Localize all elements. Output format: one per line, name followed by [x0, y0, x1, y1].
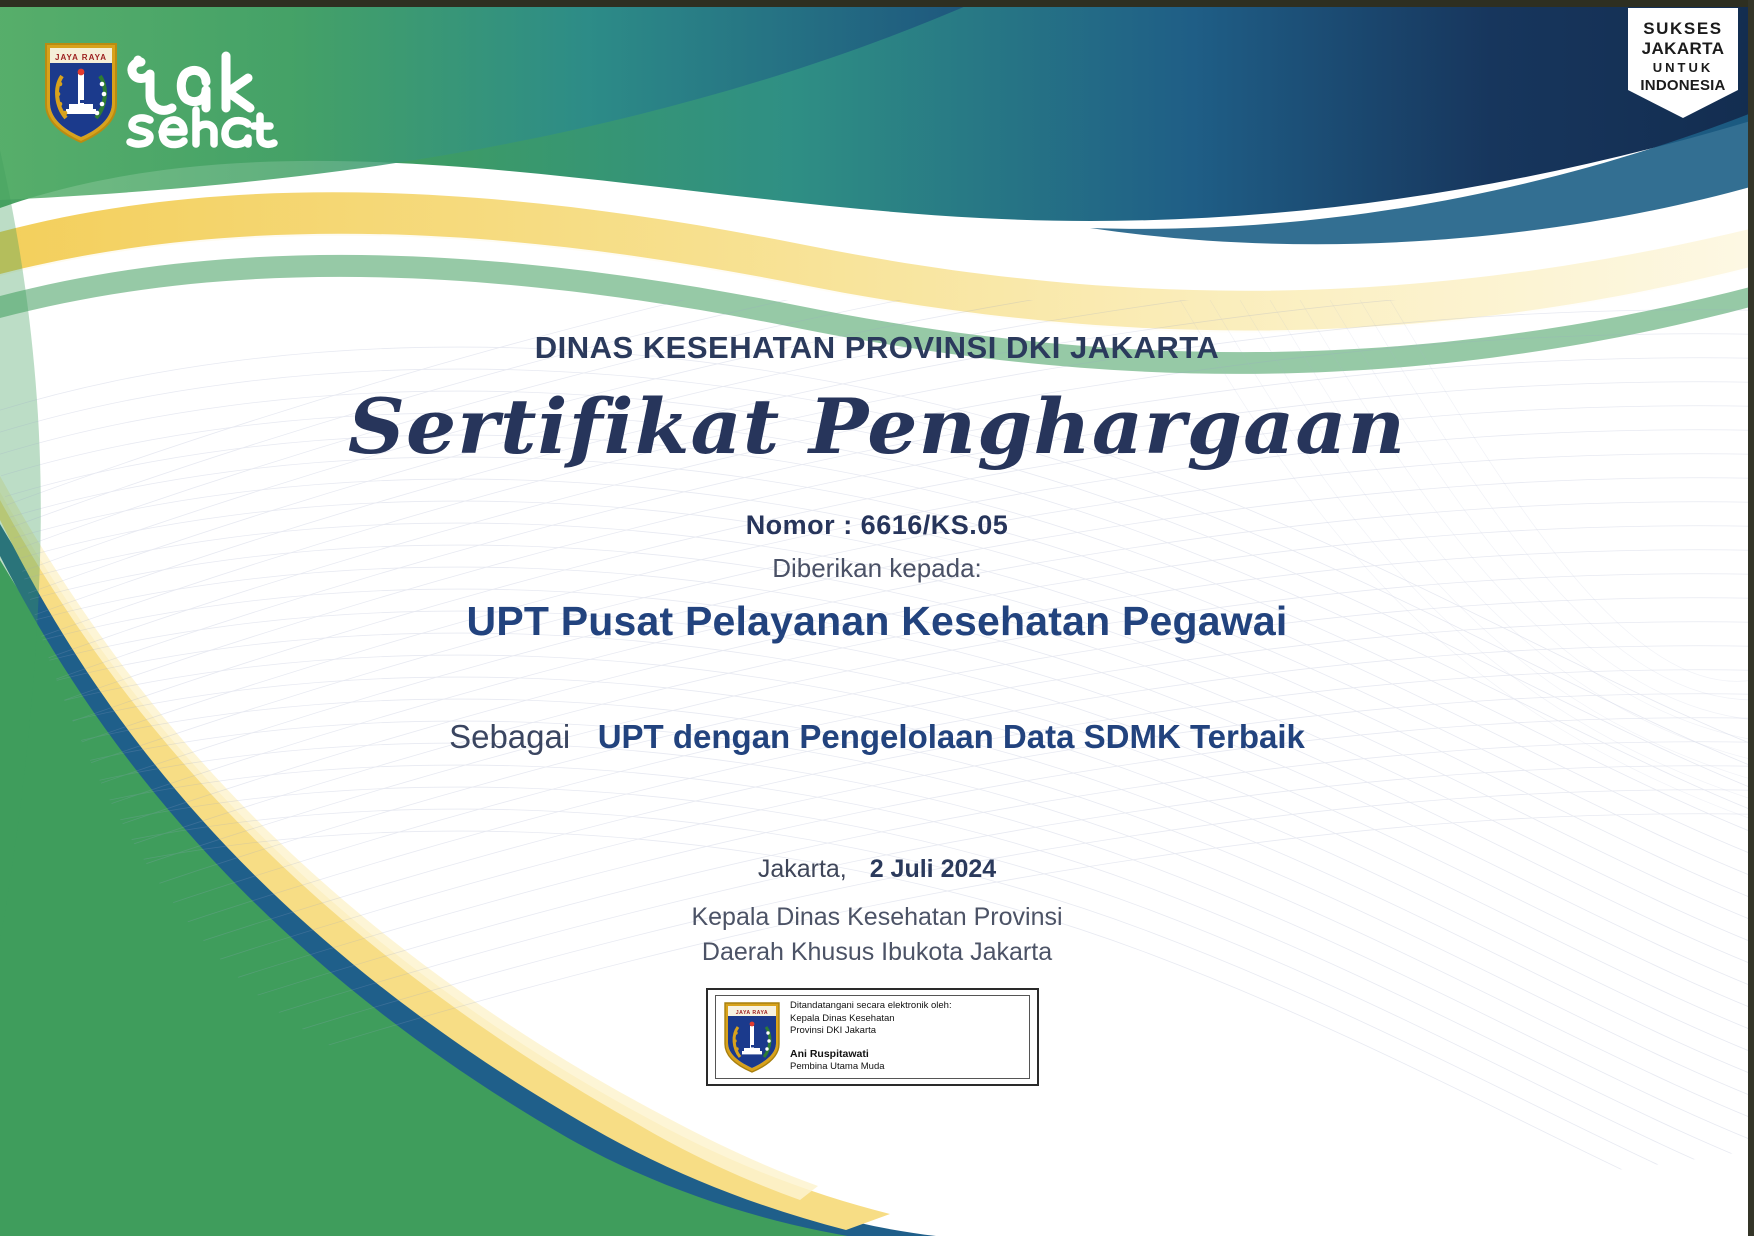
esign-line-1: Ditandatangani secara elektronik oleh: [790, 1000, 952, 1012]
certificate-script-title: Sertifikat Penghargaan [0, 382, 1754, 471]
awarded-to-label: Diberikan kepada: [0, 553, 1754, 584]
esign-signer-name: Ani Ruspitawati [790, 1048, 952, 1061]
signing-city: Jakarta, [758, 855, 847, 883]
award-category: UPT dengan Pengelolaan Data SDMK Terbaik [598, 718, 1305, 755]
electronic-signature-text: Ditandatangani secara elektronik oleh: K… [790, 1000, 952, 1073]
as-label: Sebagai [449, 718, 570, 755]
scan-edge-top [0, 0, 1754, 7]
esign-signer-rank: Pembina Utama Muda [790, 1061, 952, 1073]
place-and-date: Jakarta, 2 Juli 2024 [0, 855, 1754, 884]
emblem-motto-small: JAYA RAYA [736, 1010, 768, 1016]
certificate-content: DINAS KESEHATAN PROVINSI DKI JAKARTA Ser… [0, 0, 1754, 1241]
certificate-page: JAYA RAYA [0, 0, 1754, 1241]
signer-title-line-1: Kepala Dinas Kesehatan Provinsi [0, 903, 1754, 932]
esign-line-2: Kepala Dinas Kesehatan [790, 1013, 952, 1025]
signing-date: 2 Juli 2024 [870, 855, 996, 883]
scan-edge-right [1748, 0, 1754, 1241]
certificate-number: Nomor : 6616/KS.05 [0, 510, 1754, 541]
scan-edge-bottom [0, 1236, 1754, 1241]
signer-title-line-2: Daerah Khusus Ibukota Jakarta [0, 938, 1754, 967]
dki-jakarta-emblem-small: JAYA RAYA [721, 1000, 783, 1074]
esign-line-3: Provinsi DKI Jakarta [790, 1025, 952, 1037]
electronic-signature-box: JAYA RAYA [706, 988, 1039, 1086]
recipient-name: UPT Pusat Pelayanan Kesehatan Pegawai [0, 598, 1754, 645]
organization-title: DINAS KESEHATAN PROVINSI DKI JAKARTA [0, 330, 1754, 366]
award-category-line: Sebagai UPT dengan Pengelolaan Data SDMK… [0, 718, 1754, 756]
